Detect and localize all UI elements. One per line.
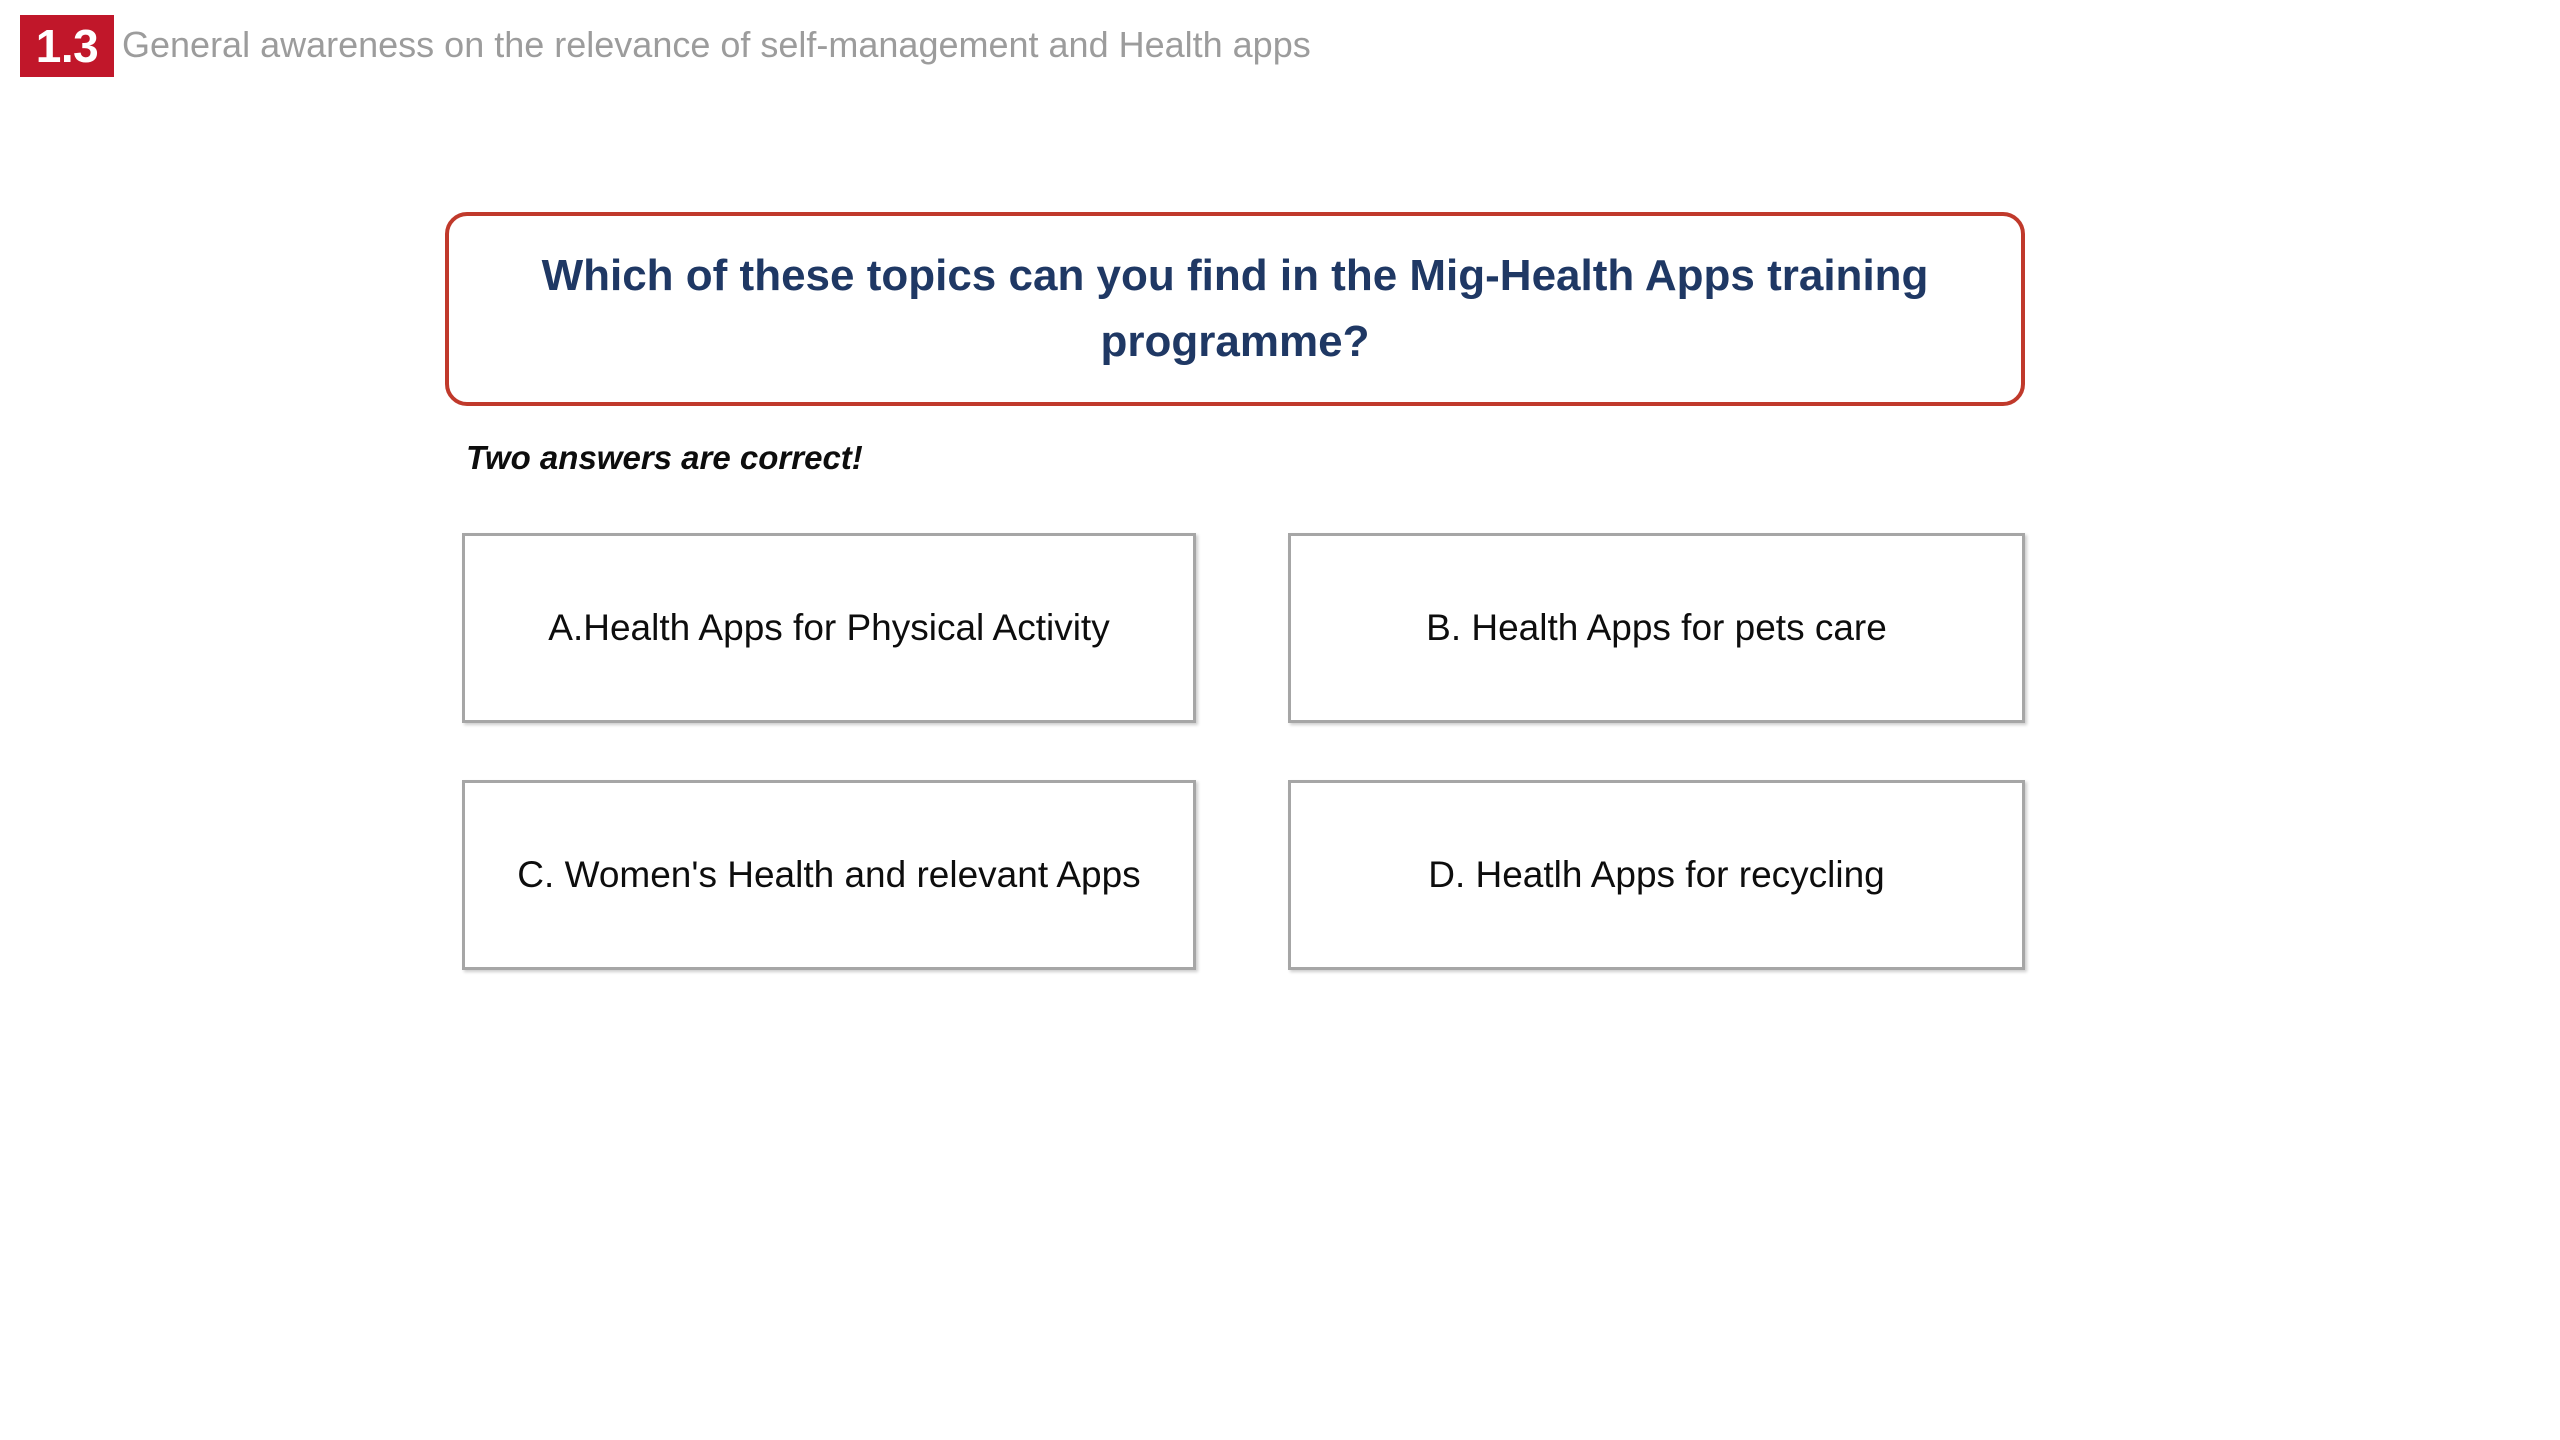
- question-callout-box: Which of these topics can you find in th…: [445, 212, 2025, 406]
- answer-option-c[interactable]: C. Women's Health and relevant Apps: [462, 780, 1196, 970]
- answer-option-b-label: B. Health Apps for pets care: [1426, 603, 1887, 653]
- slide-header: 1.3 General awareness on the relevance o…: [0, 0, 2560, 100]
- section-title: General awareness on the relevance of se…: [122, 22, 1311, 68]
- section-number-badge: 1.3: [20, 15, 114, 77]
- answer-option-c-label: C. Women's Health and relevant Apps: [517, 850, 1140, 900]
- section-number-label: 1.3: [36, 23, 98, 69]
- answer-option-a-label: A.Health Apps for Physical Activity: [548, 603, 1109, 653]
- answer-option-d-label: D. Heatlh Apps for recycling: [1428, 850, 1885, 900]
- answer-option-d[interactable]: D. Heatlh Apps for recycling: [1288, 780, 2025, 970]
- answer-option-a[interactable]: A.Health Apps for Physical Activity: [462, 533, 1196, 723]
- answer-hint-text: Two answers are correct!: [466, 438, 863, 478]
- question-text: Which of these topics can you find in th…: [485, 243, 1985, 375]
- answer-option-b[interactable]: B. Health Apps for pets care: [1288, 533, 2025, 723]
